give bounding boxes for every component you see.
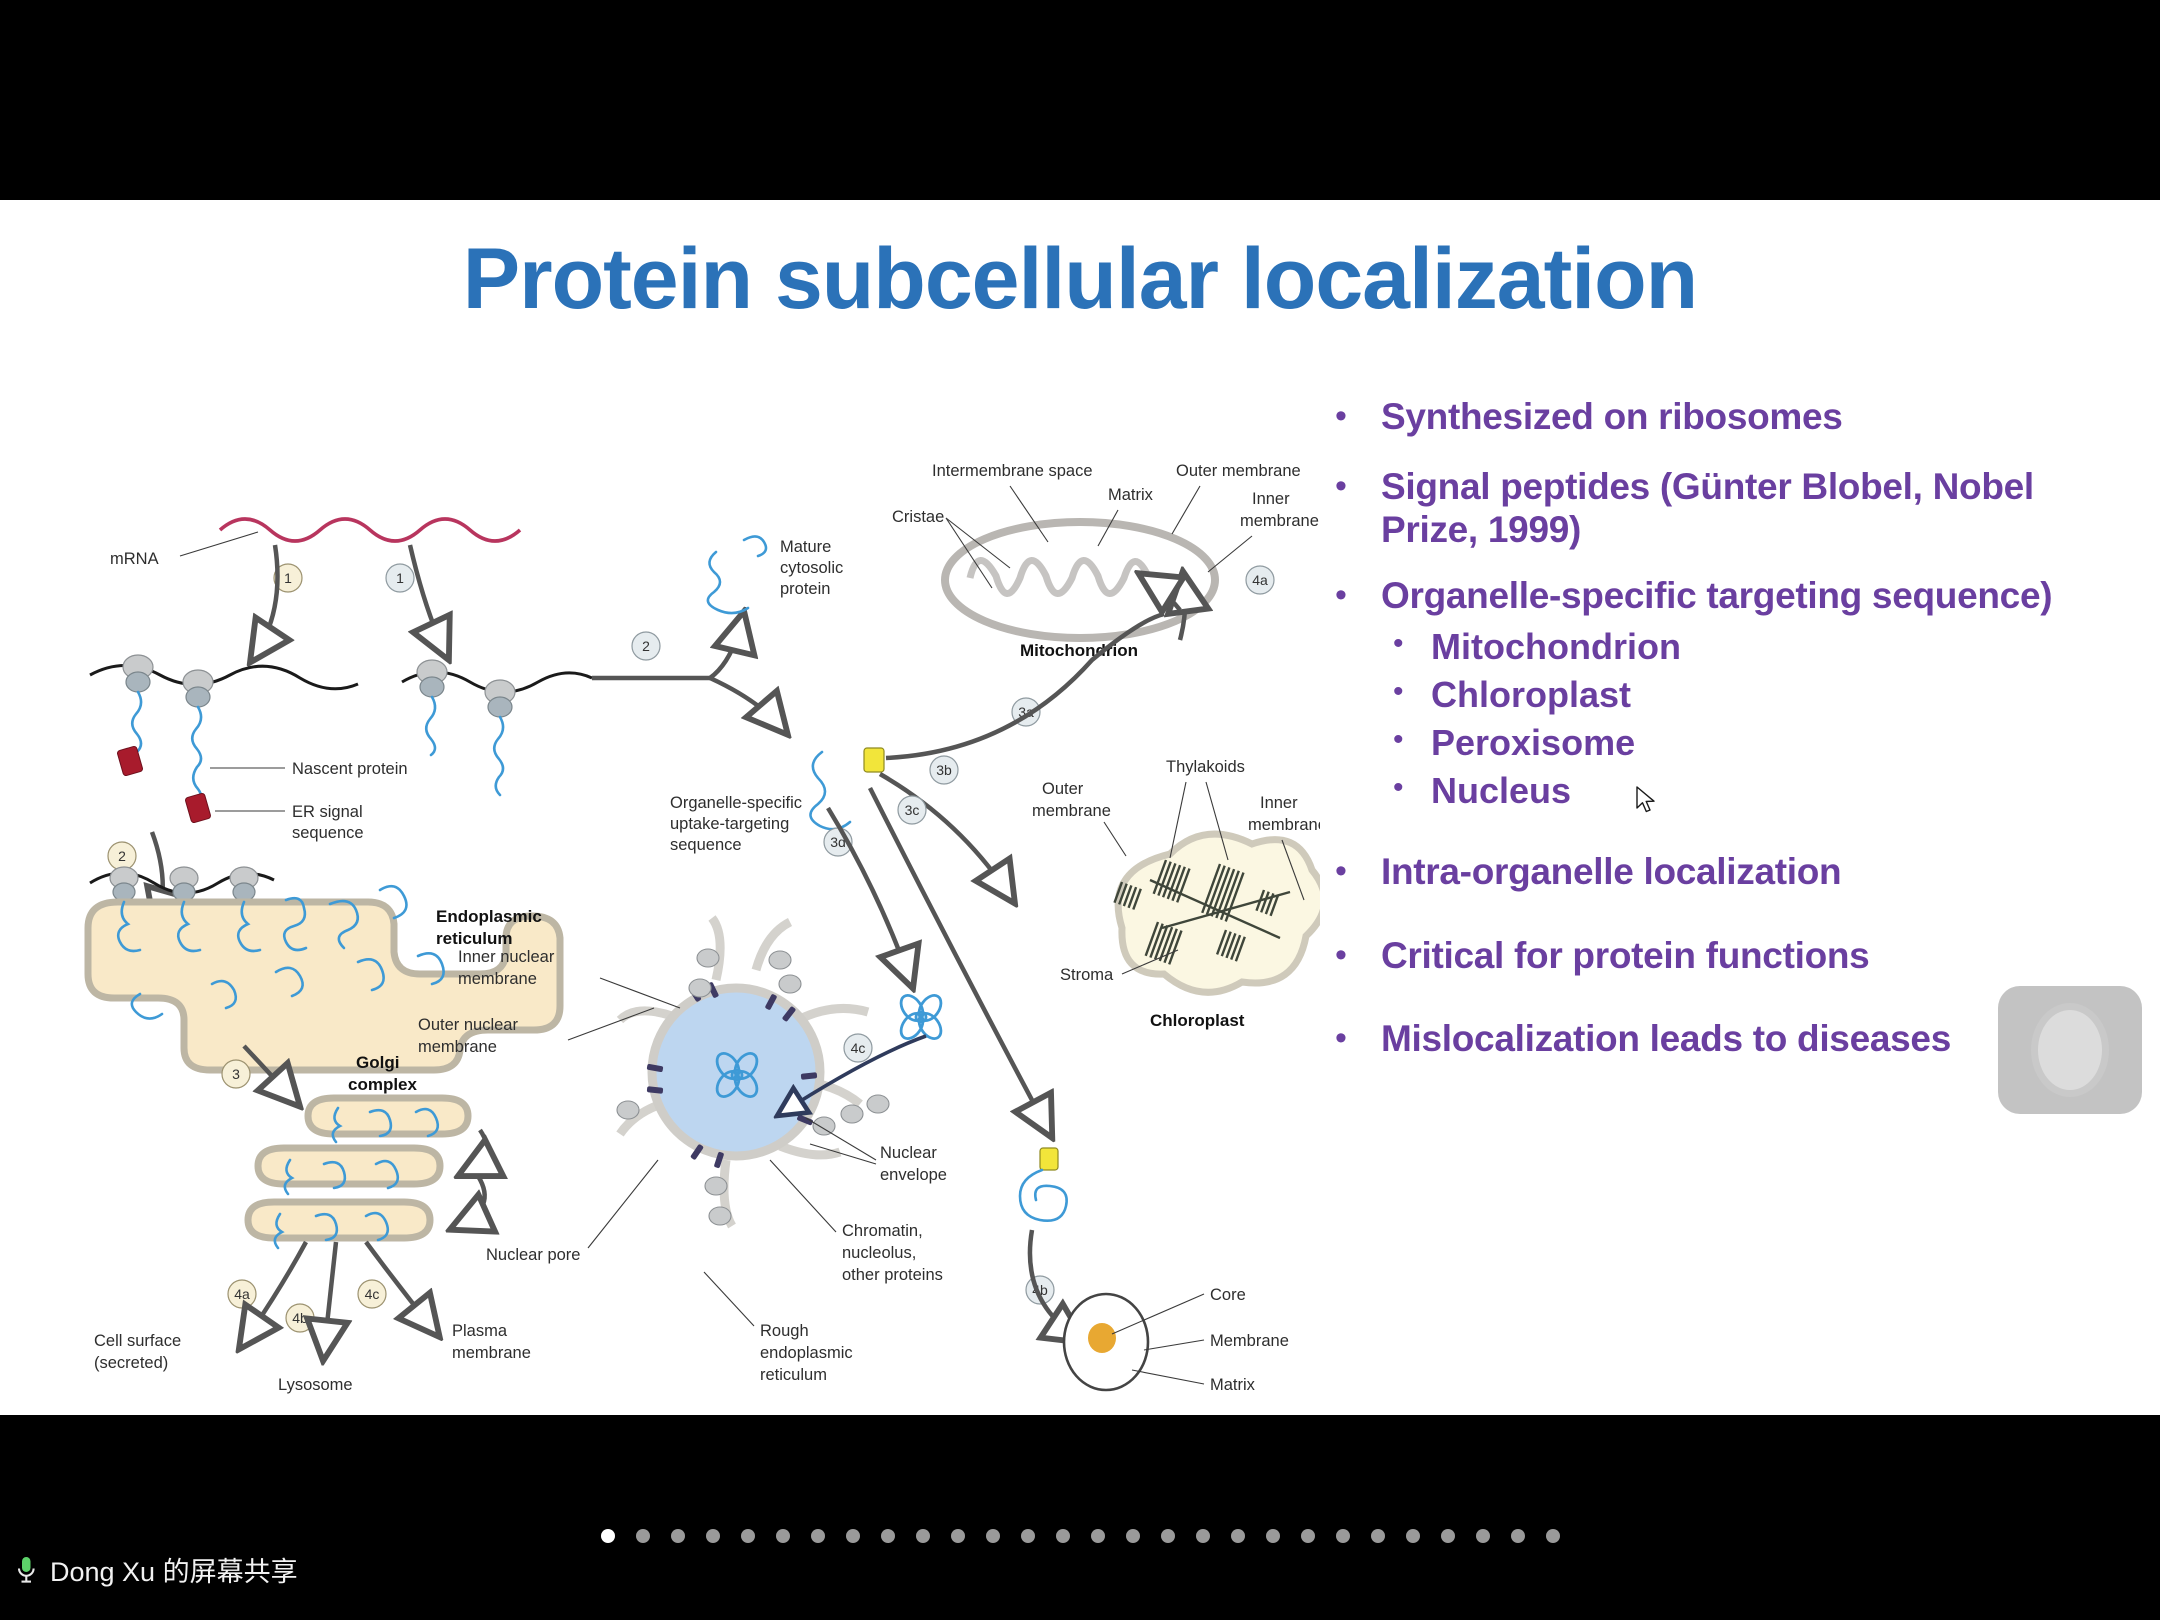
screen-share-label: Dong Xu 的屏幕共享	[50, 1550, 298, 1589]
pagination-dot[interactable]	[1056, 1529, 1070, 1543]
bullet-text: Mitochondrion	[1431, 624, 1681, 670]
bullet-item-1: • Synthesized on ribosomes	[1335, 395, 2125, 439]
pagination-dot[interactable]	[601, 1529, 615, 1543]
label-plasma-1: Plasma	[452, 1322, 508, 1340]
label-intermembrane-space: Intermembrane space	[932, 462, 1093, 480]
label-outer-membrane-mito: Outer membrane	[1176, 462, 1301, 480]
label-inner-membrane-chl-1: Inner	[1260, 794, 1298, 812]
label-organelle-1: Organelle-specific	[670, 794, 802, 812]
pagination-dot[interactable]	[1546, 1529, 1560, 1543]
sub-bullet-chloroplast: • Chloroplast	[1393, 672, 2125, 718]
label-lysosome: Lysosome	[278, 1376, 353, 1394]
ribosome-pair-left	[123, 655, 213, 707]
ribosome-pair-right	[417, 660, 515, 717]
pagination-dot[interactable]	[951, 1529, 965, 1543]
bullet-marker: •	[1335, 850, 1381, 890]
pagination-dot[interactable]	[1301, 1529, 1315, 1543]
svg-text:3: 3	[232, 1066, 240, 1082]
nuclear-cargo-protein	[897, 991, 946, 1042]
label-nuclear-envelope-1: Nuclear	[880, 1144, 937, 1162]
pagination-dot[interactable]	[811, 1529, 825, 1543]
bullet-text: Mislocalization leads to diseases	[1381, 1017, 1951, 1061]
svg-text:4c: 4c	[365, 1286, 380, 1302]
sub-bullet-peroxisome: • Peroxisome	[1393, 720, 2125, 766]
bullet-marker: •	[1335, 465, 1381, 505]
bullet-text: Critical for protein functions	[1381, 934, 1869, 978]
label-thylakoids: Thylakoids	[1166, 758, 1245, 776]
chloroplast-figure	[1114, 834, 1320, 992]
svg-text:4b: 4b	[292, 1310, 308, 1326]
pagination-dot[interactable]	[1091, 1529, 1105, 1543]
step-badge-3b: 3b	[930, 756, 958, 784]
label-golgi-1: Golgi	[356, 1053, 399, 1072]
pagination-dot[interactable]	[1231, 1529, 1245, 1543]
svg-text:4c: 4c	[851, 1040, 866, 1056]
meeting-bottom-bar: Dong Xu 的屏幕共享	[0, 1415, 2160, 1620]
label-er-signal-1: ER signal	[292, 803, 363, 821]
peroxisome-figure	[1064, 1294, 1148, 1390]
pagination-dot[interactable]	[1021, 1529, 1035, 1543]
bullet-item-2: • Signal peptides (Günter Blobel, Nobel …	[1335, 465, 2125, 552]
label-chromatin-1: Chromatin,	[842, 1222, 923, 1240]
bullet-text: Intra-organelle localization	[1381, 850, 1841, 894]
label-inner-membrane-chl-2: membrane	[1248, 816, 1320, 834]
pagination-dot[interactable]	[1511, 1529, 1525, 1543]
bullet-text: Chloroplast	[1431, 672, 1631, 718]
bullet-item-4: • Intra-organelle localization	[1335, 850, 2125, 894]
label-mature-2: cytosolic	[780, 559, 843, 577]
bullet-text: Peroxisome	[1431, 720, 1635, 766]
svg-text:2: 2	[642, 638, 650, 654]
page-title: Protein subcellular localization	[0, 230, 2160, 329]
pagination-dot[interactable]	[1126, 1529, 1140, 1543]
label-nascent-protein: Nascent protein	[292, 760, 408, 778]
bullet-marker: •	[1335, 1017, 1381, 1057]
pagination-dot[interactable]	[636, 1529, 650, 1543]
bullet-marker: •	[1335, 395, 1381, 435]
label-cell-surface-2: (secreted)	[94, 1354, 168, 1372]
er-ribosomes	[110, 867, 258, 901]
pagination-dot[interactable]	[706, 1529, 720, 1543]
label-endoplasmic-2: reticulum	[436, 929, 513, 948]
bullet-marker: •	[1393, 624, 1431, 660]
label-rough-er-1: Rough	[760, 1322, 809, 1340]
svg-text:1: 1	[284, 570, 292, 586]
pagination-dot[interactable]	[1266, 1529, 1280, 1543]
bullet-marker: •	[1335, 574, 1381, 614]
sub-bullet-list: • Mitochondrion • Chloroplast • Peroxiso…	[1393, 624, 2125, 814]
step-badge-3: 3	[222, 1060, 250, 1088]
sub-bullet-nucleus: • Nucleus	[1393, 768, 2125, 814]
label-inner-membrane-mito-1: Inner	[1252, 490, 1290, 508]
label-plasma-2: membrane	[452, 1344, 531, 1362]
label-cristae: Cristae	[892, 508, 944, 526]
pagination-dot[interactable]	[846, 1529, 860, 1543]
pagination-dot[interactable]	[1476, 1529, 1490, 1543]
label-inner-nuclear-2: membrane	[458, 970, 537, 988]
bullet-text: Synthesized on ribosomes	[1381, 395, 1843, 439]
step-badge-4a: 4a	[228, 1280, 256, 1308]
mitochondrion-figure	[945, 522, 1215, 638]
label-rough-er-2: endoplasmic	[760, 1344, 853, 1362]
bullet-marker: •	[1393, 720, 1431, 756]
sub-bullet-mitochondrion: • Mitochondrion	[1393, 624, 2125, 670]
bullet-text: Nucleus	[1431, 768, 1571, 814]
protein-sorting-pathway-diagram: mRNA 1 1	[80, 460, 1320, 1440]
step-badge-2a: 2	[108, 842, 136, 870]
zoom-screen-share-window: Protein subcellular localization	[0, 0, 2160, 1620]
label-endoplasmic-1: Endoplasmic	[436, 907, 542, 926]
step-badge-4a-mito: 4a	[1246, 566, 1274, 594]
pagination-dot[interactable]	[671, 1529, 685, 1543]
bullet-text: Signal peptides (Günter Blobel, Nobel Pr…	[1381, 465, 2125, 552]
label-golgi-2: complex	[348, 1075, 418, 1094]
label-er-signal-2: sequence	[292, 824, 364, 842]
label-outer-membrane-chl-2: membrane	[1032, 802, 1111, 820]
pagination-dot[interactable]	[916, 1529, 930, 1543]
label-outer-nuclear-1: Outer nuclear	[418, 1016, 518, 1034]
bullet-marker: •	[1335, 934, 1381, 974]
bullet-text: Organelle-specific targeting sequence)	[1381, 574, 2052, 618]
pagination-dot[interactable]	[986, 1529, 1000, 1543]
label-outer-nuclear-2: membrane	[418, 1038, 497, 1056]
pagination-dot[interactable]	[1196, 1529, 1210, 1543]
label-stroma: Stroma	[1060, 966, 1114, 984]
svg-text:3c: 3c	[905, 802, 920, 818]
step-badge-2b: 2	[632, 632, 660, 660]
bullet-marker: •	[1393, 672, 1431, 708]
shared-slide-surface: Protein subcellular localization	[0, 200, 2160, 1415]
bullet-item-3: • Organelle-specific targeting sequence)	[1335, 574, 2125, 618]
pagination-dot[interactable]	[1336, 1529, 1350, 1543]
label-mature-3: protein	[780, 580, 830, 598]
label-mature-1: Mature	[780, 538, 831, 556]
bullet-marker: •	[1393, 768, 1431, 804]
label-chromatin-2: nucleolus,	[842, 1244, 916, 1262]
label-mitochondrion: Mitochondrion	[1020, 641, 1138, 660]
label-organelle-2: uptake-targeting	[670, 815, 789, 833]
svg-text:1: 1	[396, 570, 404, 586]
bullet-item-5: • Critical for protein functions	[1335, 934, 2125, 978]
pagination-dot[interactable]	[881, 1529, 895, 1543]
step-badge-4b: 4b	[286, 1304, 314, 1332]
pagination-dot[interactable]	[1406, 1529, 1420, 1543]
step-badge-1b: 1	[386, 564, 414, 592]
label-inner-membrane-mito-2: membrane	[1240, 512, 1319, 530]
label-nuclear-envelope-2: envelope	[880, 1166, 947, 1184]
label-inner-nuclear-1: Inner nuclear	[458, 948, 555, 966]
golgi-complex-figure	[248, 1098, 468, 1248]
pagination-dot[interactable]	[1161, 1529, 1175, 1543]
pagination-dot[interactable]	[741, 1529, 755, 1543]
bullet-item-3-group: • Organelle-specific targeting sequence)…	[1335, 574, 2125, 814]
label-organelle-3: sequence	[670, 836, 742, 854]
slide-pagination-dots[interactable]	[0, 1529, 2160, 1543]
step-badge-4c: 4c	[358, 1280, 386, 1308]
pagination-dot[interactable]	[1371, 1529, 1385, 1543]
pagination-dot[interactable]	[776, 1529, 790, 1543]
step-badge-3c: 3c	[898, 796, 926, 824]
mouse-pointer-icon	[1636, 786, 1658, 816]
svg-text:2: 2	[118, 848, 126, 864]
label-nuclear-pore: Nuclear pore	[486, 1246, 580, 1264]
label-outer-membrane-chl-1: Outer	[1042, 780, 1084, 798]
label-matrix-top: Matrix	[1108, 486, 1154, 504]
microphone-icon[interactable]	[14, 1554, 38, 1586]
svg-text:4a: 4a	[1252, 572, 1268, 588]
label-chromatin-3: other proteins	[842, 1266, 943, 1284]
step-badge-4c-nucleus: 4c	[844, 1034, 872, 1062]
avatar-inner-circle	[2038, 1010, 2102, 1090]
svg-text:4a: 4a	[234, 1286, 250, 1302]
label-mrna: mRNA	[110, 550, 159, 568]
screen-share-status: Dong Xu 的屏幕共享	[14, 1550, 298, 1589]
label-membrane-perox: Membrane	[1210, 1332, 1289, 1350]
participant-video-tile[interactable]	[1998, 986, 2142, 1114]
label-rough-er-3: reticulum	[760, 1366, 827, 1384]
label-matrix-perox: Matrix	[1210, 1376, 1256, 1394]
svg-text:3b: 3b	[936, 762, 952, 778]
label-cell-surface-1: Cell surface	[94, 1332, 181, 1350]
pagination-dot[interactable]	[1441, 1529, 1455, 1543]
label-chloroplast: Chloroplast	[1150, 1011, 1245, 1030]
label-core: Core	[1210, 1286, 1246, 1304]
slide-bullet-list: • Synthesized on ribosomes • Signal pept…	[1335, 395, 2125, 1087]
